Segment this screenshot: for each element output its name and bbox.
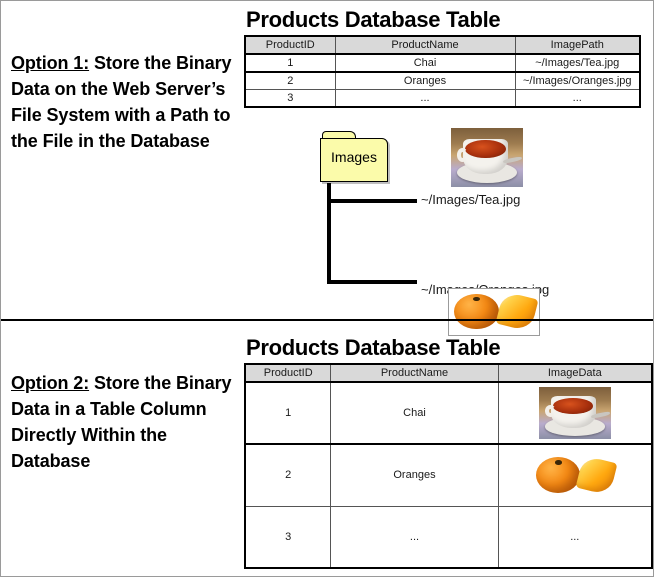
column-header-productid: ProductID bbox=[245, 36, 335, 54]
panel-divider bbox=[1, 319, 653, 321]
cell-productid: 1 bbox=[245, 382, 331, 444]
tea-cup-photo bbox=[539, 387, 611, 439]
cell-productname: Oranges bbox=[335, 72, 515, 90]
cell-productname: ... bbox=[335, 90, 515, 108]
cell-productid: 2 bbox=[245, 72, 335, 90]
cell-productname: Oranges bbox=[331, 444, 498, 506]
table-row: 2 Oranges ~/Images/Oranges.jpg bbox=[245, 72, 640, 90]
option-2-table-block: Products Database Table ProductID Produc… bbox=[244, 335, 653, 569]
column-header-productid: ProductID bbox=[245, 364, 331, 382]
column-header-imagepath: ImagePath bbox=[515, 36, 640, 54]
cell-productid: 3 bbox=[245, 506, 331, 568]
tree-branch-2 bbox=[327, 280, 417, 284]
products-database-table-option-1: ProductID ProductName ImagePath 1 Chai ~… bbox=[244, 35, 641, 108]
column-header-productname: ProductName bbox=[335, 36, 515, 54]
tea-cup-photo bbox=[451, 128, 523, 187]
tea-liquid-shape bbox=[553, 398, 593, 414]
option-1-table-block: Products Database Table ProductID Produc… bbox=[244, 7, 641, 108]
table-row: 1 Chai bbox=[245, 382, 652, 444]
option-2-table-title: Products Database Table bbox=[246, 335, 653, 361]
option-2-label: Option 2: bbox=[11, 373, 89, 393]
cell-productid: 3 bbox=[245, 90, 335, 108]
option-1-table-title: Products Database Table bbox=[246, 7, 641, 33]
orange-wedge-shape bbox=[576, 455, 618, 496]
cell-imagepath: ... bbox=[515, 90, 640, 108]
folder-icon: Images bbox=[320, 131, 390, 183]
cell-imagepath: ~/Images/Oranges.jpg bbox=[515, 72, 640, 90]
cell-productname: ... bbox=[331, 506, 498, 568]
oranges-photo bbox=[448, 288, 540, 336]
table-row: 1 Chai ~/Images/Tea.jpg bbox=[245, 54, 640, 72]
filesystem-tree: Images ~/Images/Tea.jpg ~/Images/Oranges… bbox=[1, 1, 93, 108]
cell-imagedata bbox=[498, 444, 652, 506]
cell-productname: Chai bbox=[331, 382, 498, 444]
tree-branch-1 bbox=[327, 199, 417, 203]
tea-liquid-shape bbox=[465, 140, 505, 158]
option-2-description: Option 2: Store the Binary Data in a Tab… bbox=[11, 371, 239, 475]
orange-wedge-shape bbox=[495, 292, 538, 333]
column-header-productname: ProductName bbox=[331, 364, 498, 382]
cell-imagedata: ... bbox=[498, 506, 652, 568]
table-row: 3 ... ... bbox=[245, 506, 652, 568]
cell-productname: Chai bbox=[335, 54, 515, 72]
products-database-table-option-2: ProductID ProductName ImageData 1 Chai bbox=[244, 363, 653, 569]
cell-imagedata bbox=[498, 382, 652, 444]
cell-imagepath: ~/Images/Tea.jpg bbox=[515, 54, 640, 72]
table-row: 3 ... ... bbox=[245, 90, 640, 108]
table-header-row: ProductID ProductName ImageData bbox=[245, 364, 652, 382]
column-header-imagedata: ImageData bbox=[498, 364, 652, 382]
table-row: 2 Oranges bbox=[245, 444, 652, 506]
cell-productid: 1 bbox=[245, 54, 335, 72]
cup-handle-shape bbox=[545, 405, 557, 417]
diagram-canvas: Option 1: Store the Binary Data on the W… bbox=[0, 0, 654, 577]
orange-stem-shape bbox=[555, 460, 562, 465]
folder-label: Images bbox=[320, 149, 388, 165]
table-header-row: ProductID ProductName ImagePath bbox=[245, 36, 640, 54]
file-path-label-tea: ~/Images/Tea.jpg bbox=[421, 192, 520, 207]
cell-productid: 2 bbox=[245, 444, 331, 506]
oranges-photo bbox=[531, 452, 619, 498]
